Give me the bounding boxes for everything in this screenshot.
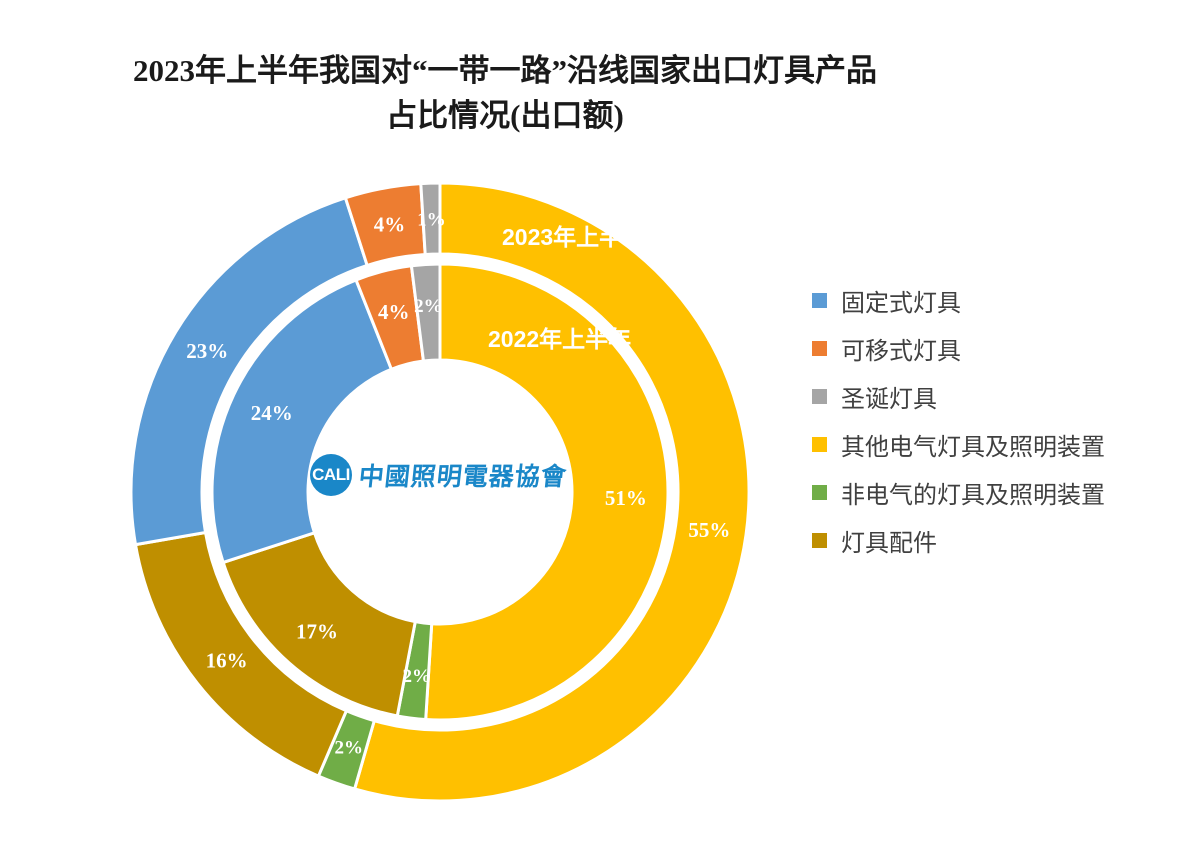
legend-swatch-icon (812, 389, 827, 404)
slice-value-label: 51% (605, 486, 647, 510)
legend-item[interactable]: 灯具配件 (812, 516, 1172, 564)
slice-value-label: 16% (206, 649, 248, 673)
slice-value-label: 2% (402, 666, 431, 687)
slice-value-label: 4% (374, 213, 406, 237)
legend-swatch-icon (812, 437, 827, 452)
legend-item[interactable]: 圣诞灯具 (812, 372, 1172, 420)
outer-ring-series-label: 2023年上半年 (502, 224, 645, 250)
legend-label: 可移式灯具 (841, 331, 961, 366)
legend-item[interactable]: 可移式灯具 (812, 324, 1172, 372)
legend-swatch-icon (812, 341, 827, 356)
chart-legend: 固定式灯具可移式灯具圣诞灯具其他电气灯具及照明装置非电气的灯具及照明装置灯具配件 (812, 276, 1172, 564)
slice-value-label: 2% (414, 296, 443, 317)
legend-item[interactable]: 固定式灯具 (812, 276, 1172, 324)
chart-container: 2023年上半年我国对“一带一路”沿线国家出口灯具产品 占比情况(出口额) 20… (0, 0, 1181, 862)
legend-label: 圣诞灯具 (841, 379, 937, 414)
legend-swatch-icon (812, 293, 827, 308)
legend-item[interactable]: 其他电气灯具及照明装置 (812, 420, 1172, 468)
slice-value-label: 24% (251, 401, 293, 425)
slice-value-label: 1% (417, 210, 446, 231)
slice-value-label: 17% (296, 620, 338, 644)
slice-value-label: 4% (378, 300, 410, 324)
legend-swatch-icon (812, 533, 827, 548)
slice-value-label: 2% (334, 738, 363, 759)
legend-label: 灯具配件 (841, 523, 937, 558)
inner-ring-series-label: 2022年上半年 (488, 326, 631, 352)
legend-item[interactable]: 非电气的灯具及照明装置 (812, 468, 1172, 516)
slice-value-label: 55% (688, 518, 730, 542)
slice-value-label: 23% (186, 339, 228, 363)
legend-label: 其他电气灯具及照明装置 (841, 427, 1105, 462)
legend-label: 固定式灯具 (841, 283, 961, 318)
legend-label: 非电气的灯具及照明装置 (841, 475, 1105, 510)
legend-swatch-icon (812, 485, 827, 500)
